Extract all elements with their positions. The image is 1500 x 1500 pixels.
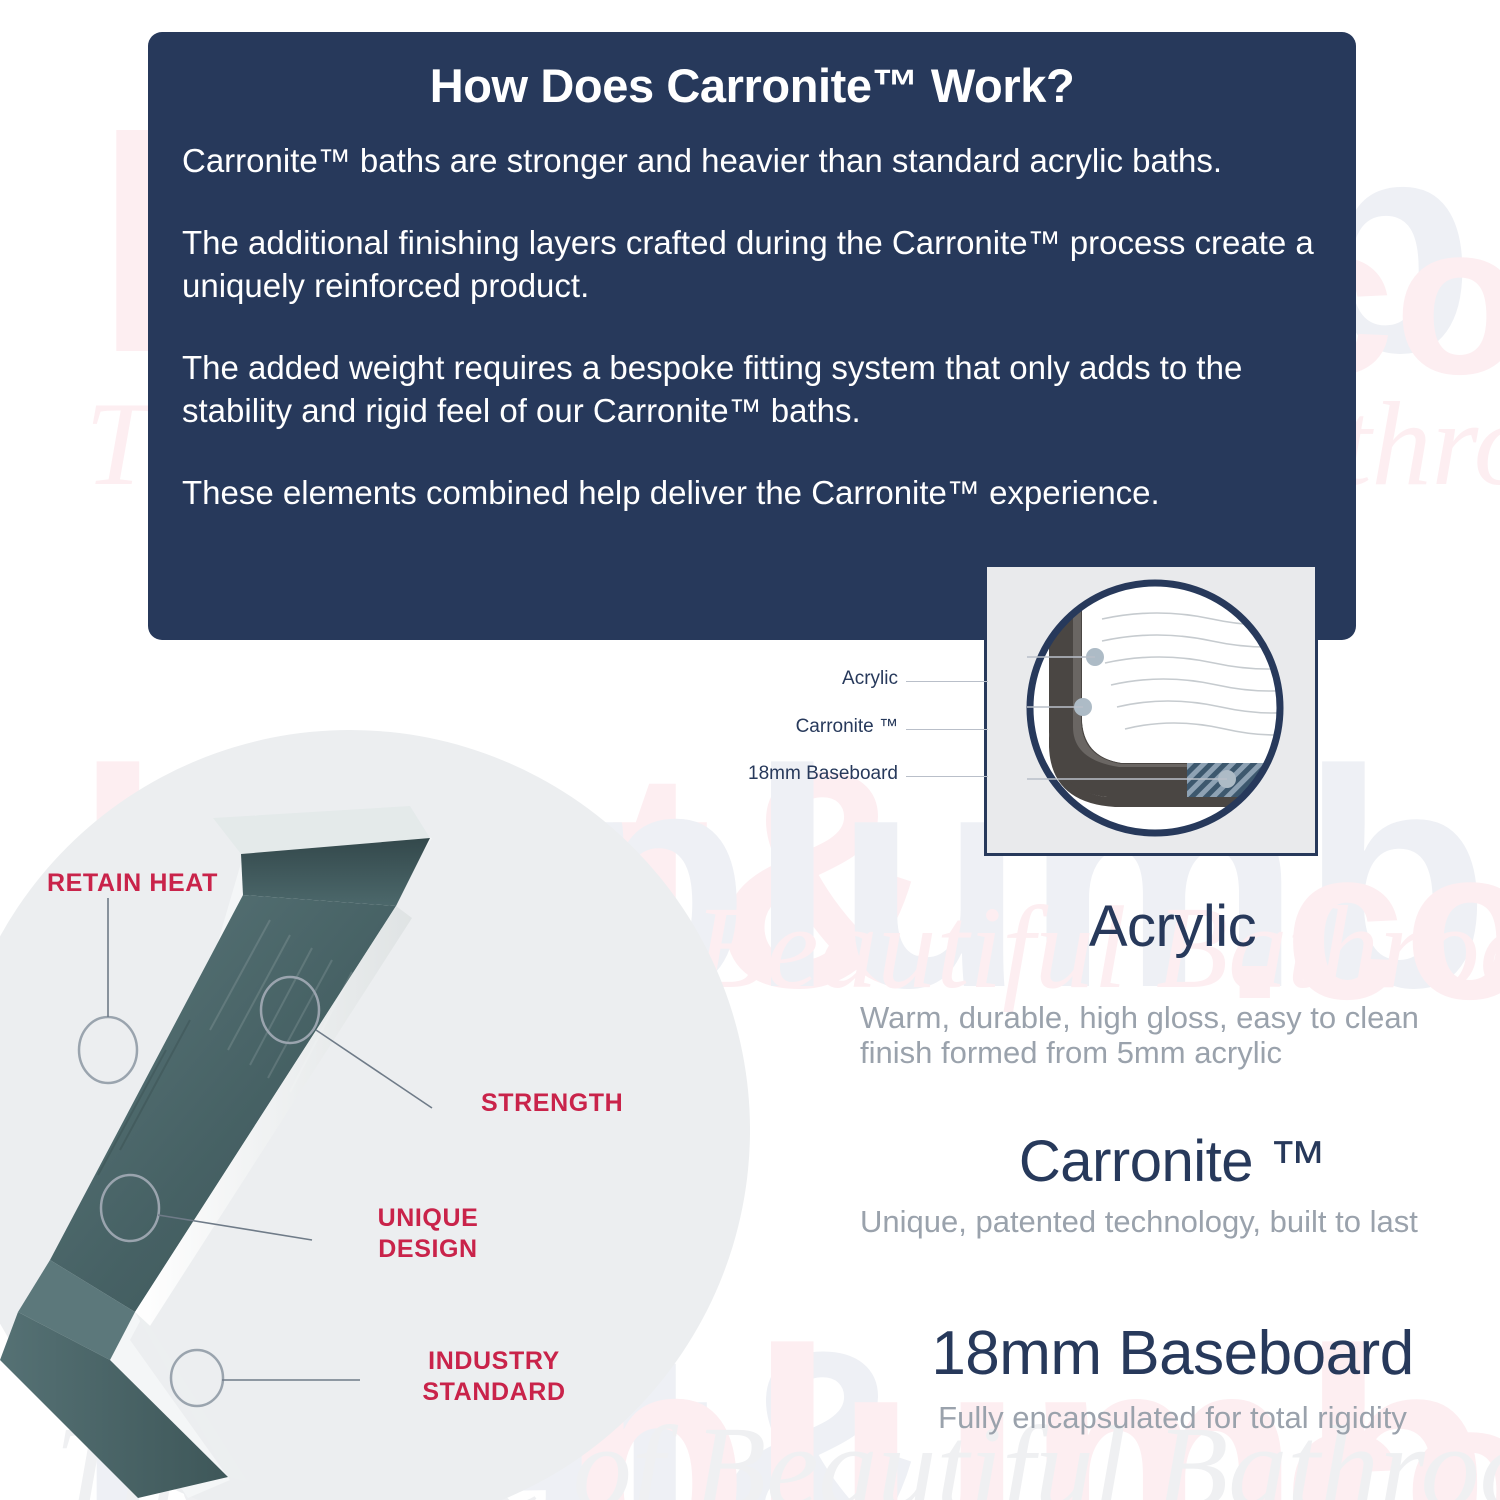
callout-industry-standard: INDUSTRY STANDARD: [404, 1346, 584, 1407]
info-panel: How Does Carronite™ Work? Carronite™ bat…: [148, 32, 1356, 640]
callout-unique-design-line2: DESIGN: [343, 1234, 513, 1265]
panel-paragraph-1: Carronite™ baths are stronger and heavie…: [182, 139, 1322, 183]
cross-section-label-carronite: Carronite ™: [618, 716, 898, 738]
layer-baseboard-title-wrap: 18mm Baseboard: [845, 1318, 1500, 1389]
layer-acrylic-title-wrap: Acrylic: [845, 893, 1500, 960]
layer-carronite-title: Carronite ™: [845, 1128, 1500, 1195]
callout-unique-design-line1: UNIQUE: [343, 1203, 513, 1234]
layer-baseboard-title: 18mm Baseboard: [845, 1318, 1500, 1389]
layer-acrylic-description: Warm, durable, high gloss, easy to clean…: [860, 1000, 1460, 1071]
panel-paragraph-3: The added weight requires a bespoke fitt…: [182, 346, 1322, 433]
layer-carronite-title-wrap: Carronite ™: [845, 1128, 1500, 1195]
layer-acrylic-desc-wrap: Warm, durable, high gloss, easy to clean…: [860, 1000, 1460, 1071]
cross-section-diagram: [987, 567, 1315, 853]
leader-line-acrylic: [906, 681, 988, 682]
layer-carronite-description: Unique, patented technology, built to la…: [860, 1204, 1460, 1239]
layer-carronite-desc-wrap: Unique, patented technology, built to la…: [860, 1204, 1460, 1239]
panel-paragraph-2: The additional finishing layers crafted …: [182, 221, 1322, 308]
callout-unique-design: UNIQUE DESIGN: [343, 1203, 513, 1264]
callout-strength: STRENGTH: [481, 1088, 623, 1119]
layer-baseboard-description: Fully encapsulated for total rigidity: [845, 1400, 1500, 1435]
cross-section-label-acrylic: Acrylic: [618, 668, 898, 690]
layer-baseboard-desc-wrap: Fully encapsulated for total rigidity: [845, 1400, 1500, 1435]
panel-paragraph-4: These elements combined help deliver the…: [182, 471, 1322, 515]
leader-line-carronite: [906, 729, 988, 730]
leader-line-baseboard: [906, 776, 988, 777]
callout-industry-standard-line2: STANDARD: [404, 1377, 584, 1408]
callout-industry-standard-line1: INDUSTRY: [404, 1346, 584, 1377]
cross-section-label-baseboard: 18mm Baseboard: [618, 763, 898, 785]
cross-section-card: [984, 564, 1318, 856]
bath-edge-photo: [0, 720, 760, 1500]
bath-profile-illustration: [0, 720, 760, 1500]
callout-retain-heat: RETAIN HEAT: [47, 868, 218, 899]
panel-title: How Does Carronite™ Work?: [182, 58, 1322, 113]
infographic-canvas: heat& plumb .com The Home of Beautiful B…: [0, 0, 1500, 1500]
layer-acrylic-title: Acrylic: [845, 893, 1500, 960]
